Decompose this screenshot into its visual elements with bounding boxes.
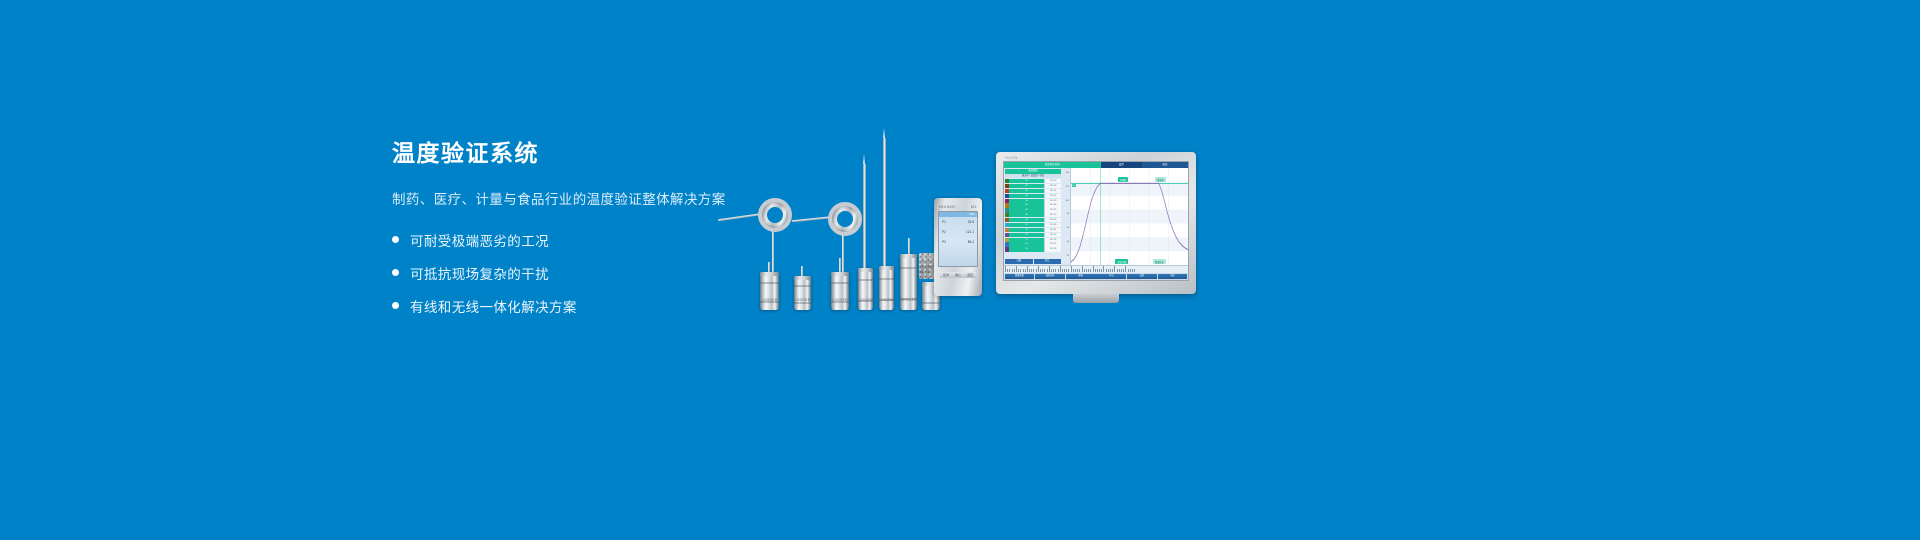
- ruler-tick: [1036, 269, 1037, 273]
- channel-value-cell: 121.22: [1044, 213, 1061, 217]
- ruler-tick: [1108, 269, 1109, 273]
- logger-label: LOGGER: [831, 298, 849, 303]
- ruler-tick: [1027, 266, 1028, 272]
- list-item: P2 121.1: [939, 230, 977, 234]
- handheld-brand-right: M1: [971, 205, 977, 209]
- handheld-brand-left: INGNIKI: [939, 205, 956, 209]
- monitor-brand: INON: [1005, 155, 1018, 160]
- table-row[interactable]: 03121.51: [1005, 189, 1061, 193]
- table-row[interactable]: 01121.43: [1005, 179, 1061, 183]
- bullet-dot-icon: [392, 269, 399, 276]
- ruler-tick: [1093, 266, 1094, 272]
- channel-id-cell: 06: [1009, 203, 1044, 207]
- reading-label: P2: [942, 230, 946, 234]
- logger-cap: [794, 276, 811, 280]
- channel-id-cell: 03: [1009, 189, 1044, 193]
- y-axis-tick: 40: [1067, 241, 1069, 243]
- channel-value-cell: 121.28: [1044, 184, 1061, 188]
- table-row[interactable]: 08121.22: [1005, 213, 1061, 217]
- channel-value-cell: 121.52: [1044, 242, 1061, 246]
- ruler-tick: [1018, 269, 1019, 273]
- y-axis-tick: 60: [1067, 227, 1069, 229]
- ruler-tick: [1038, 266, 1039, 272]
- channel-value-cell: 121.51: [1044, 189, 1061, 193]
- ruler-tick: [1031, 269, 1032, 273]
- monitor-stand: [1073, 294, 1119, 303]
- ruler-tick: [1075, 269, 1076, 273]
- ruler-tick: [1060, 266, 1061, 272]
- y-axis-tick: 20: [1067, 255, 1069, 257]
- handheld-key-confirm[interactable]: 确认: [952, 272, 964, 278]
- ruler-tick: [1016, 266, 1017, 272]
- channel-id-cell: 02: [1009, 184, 1044, 188]
- data-logger: LOGGER: [831, 272, 849, 310]
- y-axis-tick: 100: [1066, 200, 1069, 202]
- temperature-chart: 14012010080604020 F0: [1062, 168, 1188, 265]
- channel-id-cell: 09: [1009, 218, 1044, 222]
- software-button[interactable]: 数据采集: [1005, 274, 1035, 280]
- feature-label: 可耐受极端恶劣的工况: [410, 230, 549, 250]
- data-logger: LOGGER: [794, 276, 811, 310]
- table-row[interactable]: 14121.52: [1005, 242, 1061, 246]
- logger-label: LOGGER: [760, 298, 779, 303]
- ruler-tick: [1090, 269, 1091, 273]
- logger-label: WIRELESS: [900, 298, 917, 303]
- reading-value: 25.6: [968, 220, 974, 224]
- chart-y-axis: 14012010080604020: [1062, 168, 1071, 265]
- channel-id-cell: 15: [1009, 247, 1044, 251]
- software-body: 通道数据 通道号 / 温度值 / 状态 01121.4302121.280312…: [1004, 168, 1188, 265]
- ruler-tick: [1053, 269, 1054, 273]
- ruler-tick: [1071, 266, 1072, 272]
- channel-id-cell: 11: [1009, 228, 1044, 232]
- y-axis-tick: 80: [1067, 213, 1069, 215]
- reading-value: 86.4: [968, 240, 974, 244]
- channel-id-cell: 12: [1009, 233, 1044, 237]
- chart-phase-tag: 降温段: [1155, 177, 1166, 182]
- ruler-tick: [1119, 269, 1120, 273]
- ruler-tick: [1103, 266, 1104, 272]
- logger-cap: [900, 254, 917, 258]
- logger-cap: [831, 272, 849, 276]
- ruler-tick: [1079, 269, 1080, 273]
- chart-f0-badge: F0: [1072, 184, 1077, 187]
- channel-value-cell: 121.40: [1044, 218, 1061, 222]
- software-button[interactable]: 设置: [1127, 274, 1157, 280]
- ruler-tick: [1128, 269, 1129, 273]
- channel-id-cell: 01: [1009, 179, 1044, 183]
- channel-id-cell: 14: [1009, 242, 1044, 246]
- ruler-tick: [1049, 266, 1050, 272]
- table-subheader: 通道号 / 温度值 / 状态: [1005, 174, 1061, 178]
- handheld-reader[interactable]: INGNIKI M1 REC P1 25.6 P2 121.1: [934, 198, 982, 296]
- channel-id-cell: 08: [1009, 213, 1044, 217]
- table-footer: 开始 停止: [1005, 259, 1061, 264]
- ruler-tick: [1014, 269, 1015, 273]
- ruler-tick: [1055, 269, 1056, 273]
- channel-value-cell: 121.18: [1044, 247, 1061, 251]
- ruler-tick: [1023, 269, 1024, 273]
- ruler-tick: [1007, 269, 1008, 273]
- table-row[interactable]: 13121.26: [1005, 238, 1061, 242]
- ruler-tick: [1077, 269, 1078, 273]
- y-axis-tick: 140: [1066, 172, 1069, 174]
- ruler-tick: [1062, 269, 1063, 273]
- channel-id-cell: 07: [1009, 208, 1044, 212]
- ruler-tick: [1012, 269, 1013, 273]
- reading-value: 121.1: [966, 230, 974, 234]
- chart-cursor-tag: 灭菌段: [1118, 177, 1129, 182]
- handheld-key-back[interactable]: 返回: [964, 272, 976, 278]
- software-button[interactable]: 导出: [1096, 274, 1126, 280]
- data-logger: LOGGER: [879, 266, 894, 310]
- channel-value-cell: 121.55: [1044, 223, 1061, 227]
- hero-banner: 温度验证系统 制药、医疗、计量与食品行业的温度验证整体解决方案 可耐受极端恶劣的…: [0, 0, 1920, 540]
- ruler-tick: [1068, 269, 1069, 273]
- software-button[interactable]: 退出: [1158, 274, 1188, 280]
- channel-value-cell: 121.47: [1044, 233, 1061, 237]
- ruler-tick: [1121, 269, 1122, 273]
- ruler-tick: [1110, 269, 1111, 273]
- handheld-readings: P1 25.6 P2 121.1 P3 86.4: [939, 220, 977, 250]
- ruler-tick: [1066, 269, 1067, 273]
- ruler-tick: [1117, 269, 1118, 273]
- ruler-tick: [1106, 269, 1107, 273]
- bullet-dot-icon: [392, 302, 399, 309]
- ruler-tick: [1101, 269, 1102, 273]
- ruler-tick: [1134, 269, 1135, 273]
- table-row[interactable]: 02121.28: [1005, 184, 1061, 188]
- ruler-tick: [1097, 269, 1098, 273]
- channel-value-cell: 121.46: [1044, 203, 1061, 207]
- software-screen: 温度验证系统 设置 报表 通道数据 通道号 / 温度值 / 状态 01121.4…: [1003, 161, 1189, 281]
- ruler-tick: [1123, 269, 1124, 273]
- ruler-tick: [1099, 269, 1100, 273]
- needle-probe: [863, 164, 866, 276]
- ruler-tick: [1051, 269, 1052, 273]
- chart-time-ruler[interactable]: [1004, 265, 1188, 273]
- channel-id-cell: 13: [1009, 238, 1044, 242]
- bullet-dot-icon: [392, 236, 399, 243]
- table-row[interactable]: 07121.33: [1005, 208, 1061, 212]
- ruler-tick: [1042, 269, 1043, 273]
- product-group: LOGGER LOGGER LOGGER LOGGER LOGGER: [700, 120, 1220, 310]
- ruler-tick: [1025, 269, 1026, 273]
- ruler-tick: [1073, 269, 1074, 273]
- channel-value-cell: 121.26: [1044, 238, 1061, 242]
- logger-cap: [879, 266, 894, 270]
- logger-label: LOGGER: [794, 298, 811, 303]
- data-logger: LOGGER: [760, 272, 779, 310]
- feature-label: 可抵抗现场复杂的干扰: [410, 263, 549, 283]
- reading-label: P3: [942, 240, 946, 244]
- table-header: 通道数据: [1005, 169, 1061, 174]
- logger-label: LOGGER: [879, 298, 894, 303]
- ruler-tick: [1040, 269, 1041, 273]
- monitor-display: INON 温度验证系统 设置 报表: [996, 152, 1196, 294]
- start-button[interactable]: 开始: [1005, 259, 1033, 264]
- ruler-tick: [1009, 269, 1010, 273]
- handheld-key-menu[interactable]: 菜单: [940, 272, 952, 278]
- list-item: P1 25.6: [939, 220, 977, 224]
- ruler-tick: [1112, 269, 1113, 273]
- ruler-tick: [1088, 269, 1089, 273]
- ruler-tick: [1044, 269, 1045, 273]
- needle-probe: [883, 138, 886, 276]
- channel-value-cell: 121.43: [1044, 179, 1061, 183]
- ruler-tick: [1029, 269, 1030, 273]
- logger-cap: [760, 272, 779, 276]
- reading-label: P1: [942, 220, 946, 224]
- handheld-statusbar: REC: [939, 212, 977, 217]
- chart-hold-end-tag: 保温结束: [1153, 259, 1166, 264]
- channel-value-cell: 121.33: [1044, 208, 1061, 212]
- handheld-status: REC: [970, 213, 975, 216]
- software-button-bar: 数据采集曲线分析报表导出设置退出: [1004, 273, 1188, 280]
- ruler-tick: [1125, 266, 1126, 272]
- chart-svg: [1071, 168, 1188, 265]
- chart-hold-start-tag: 保温开始: [1115, 259, 1128, 264]
- channel-value-cell: 121.19: [1044, 199, 1061, 203]
- ruler-tick: [1020, 269, 1021, 273]
- channel-id-cell: 10: [1009, 223, 1044, 227]
- channel-id-cell: 05: [1009, 199, 1044, 203]
- channel-table: 通道数据 通道号 / 温度值 / 状态 01121.4302121.280312…: [1004, 168, 1062, 265]
- channel-value-cell: 121.31: [1044, 228, 1061, 232]
- table-row[interactable]: 11121.31: [1005, 228, 1061, 232]
- software-button[interactable]: 曲线分析: [1035, 274, 1065, 280]
- table-row[interactable]: 04121.37: [1005, 194, 1061, 198]
- table-row[interactable]: 15121.18: [1005, 247, 1061, 251]
- table-row[interactable]: 10121.55: [1005, 223, 1061, 227]
- stop-button[interactable]: 停止: [1034, 259, 1062, 264]
- logger-cap: [858, 268, 873, 272]
- table-row[interactable]: 06121.46: [1005, 203, 1061, 207]
- ruler-tick: [1130, 269, 1131, 273]
- ruler-tick: [1084, 269, 1085, 273]
- table-row[interactable]: 12121.47: [1005, 233, 1061, 237]
- ruler-tick: [1132, 269, 1133, 273]
- ruler-tick: [1005, 266, 1006, 272]
- handheld-keypad: 菜单 确认 返回: [938, 272, 978, 278]
- y-axis-tick: 120: [1066, 186, 1069, 188]
- software-button[interactable]: 报表: [1066, 274, 1096, 280]
- data-logger: LOGGER: [858, 268, 873, 310]
- ruler-tick: [1033, 269, 1034, 273]
- table-row[interactable]: 05121.19: [1005, 199, 1061, 203]
- ruler-tick: [1114, 266, 1115, 272]
- table-body[interactable]: 01121.4302121.2803121.5104121.3705121.19…: [1005, 179, 1061, 258]
- chart-plot-area: F0 灭菌段 降温段 保温开始 保温结束: [1071, 168, 1188, 265]
- ruler-tick: [1086, 269, 1087, 273]
- ruler-tick: [1082, 266, 1083, 272]
- logger-label: LOGGER: [858, 298, 873, 303]
- ruler-tick: [1047, 269, 1048, 273]
- table-row[interactable]: 09121.40: [1005, 218, 1061, 222]
- ruler-tick: [1064, 269, 1065, 273]
- ruler-tick: [1095, 269, 1096, 273]
- channel-id-cell: 04: [1009, 194, 1044, 198]
- list-item: P3 86.4: [939, 240, 977, 244]
- handheld-screen: REC P1 25.6 P2 121.1 P3 86.4: [938, 211, 978, 267]
- ruler-tick: [1058, 269, 1059, 273]
- channel-value-cell: 121.37: [1044, 194, 1061, 198]
- feature-label: 有线和无线一体化解决方案: [410, 296, 577, 316]
- data-logger: WIRELESS: [900, 254, 917, 310]
